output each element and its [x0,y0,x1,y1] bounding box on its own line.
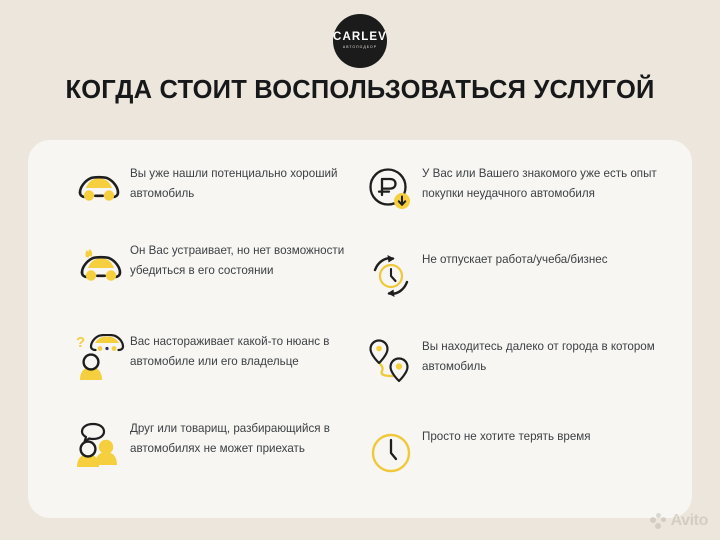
list-item: ? Вас настораживает какой-то нюанс в авт… [68,330,358,386]
avito-wordmark: Avito [671,512,708,530]
list-item: Друг или товарищ, разбирающийся в автомо… [68,417,358,473]
map-pins-route-icon [360,335,422,391]
list-item-label: Вы уже нашли потенциально хороший автомо… [130,162,358,203]
list-item: Он Вас устраивает, но нет возможности уб… [68,239,358,295]
brand-logo: CARLEV АВТОПОДБОР [0,14,720,68]
list-item-label: Он Вас устраивает, но нет возможности уб… [130,239,358,280]
list-item: Не отпускает работа/учеба/бизнес [360,248,660,304]
logo-wordmark: CARLEV [333,32,387,44]
list-item-label: Вы находитесь далеко от города в котором… [422,335,660,376]
avito-watermark: Avito [650,512,708,530]
page-title: КОГДА СТОИТ ВОСПОЛЬЗОВАТЬСЯ УСЛУГОЙ [0,76,720,105]
car-icon [68,162,130,218]
ruble-coin-down-arrow-icon [360,162,422,218]
list-item-label: Просто не хотите терять время [422,425,591,447]
person-question-car-thought-icon: ? [68,330,130,386]
svg-text:?: ? [76,334,85,351]
list-item: Вы уже нашли потенциально хороший автомо… [68,162,358,218]
list-item-label: У Вас или Вашего знакомого уже есть опыт… [422,162,660,203]
logo-circle: CARLEV АВТОПОДБОР [333,14,387,68]
avito-logo-icon [650,513,667,530]
list-item: У Вас или Вашего знакомого уже есть опыт… [360,162,660,218]
clock-cycle-arrows-icon [360,248,422,304]
list-item: Вы находитесь далеко от города в котором… [360,335,660,391]
two-people-speech-icon [68,417,130,473]
car-smoking-icon [68,239,130,295]
list-item-label: Не отпускает работа/учеба/бизнес [422,248,608,270]
list-item-label: Друг или товарищ, разбирающийся в автомо… [130,417,358,458]
clock-icon [360,425,422,481]
benefits-card: Вы уже нашли потенциально хороший автомо… [28,140,692,518]
logo-tagline: АВТОПОДБОР [343,46,377,50]
list-item-label: Вас настораживает какой-то нюанс в автом… [130,330,358,371]
list-item: Просто не хотите терять время [360,425,660,481]
